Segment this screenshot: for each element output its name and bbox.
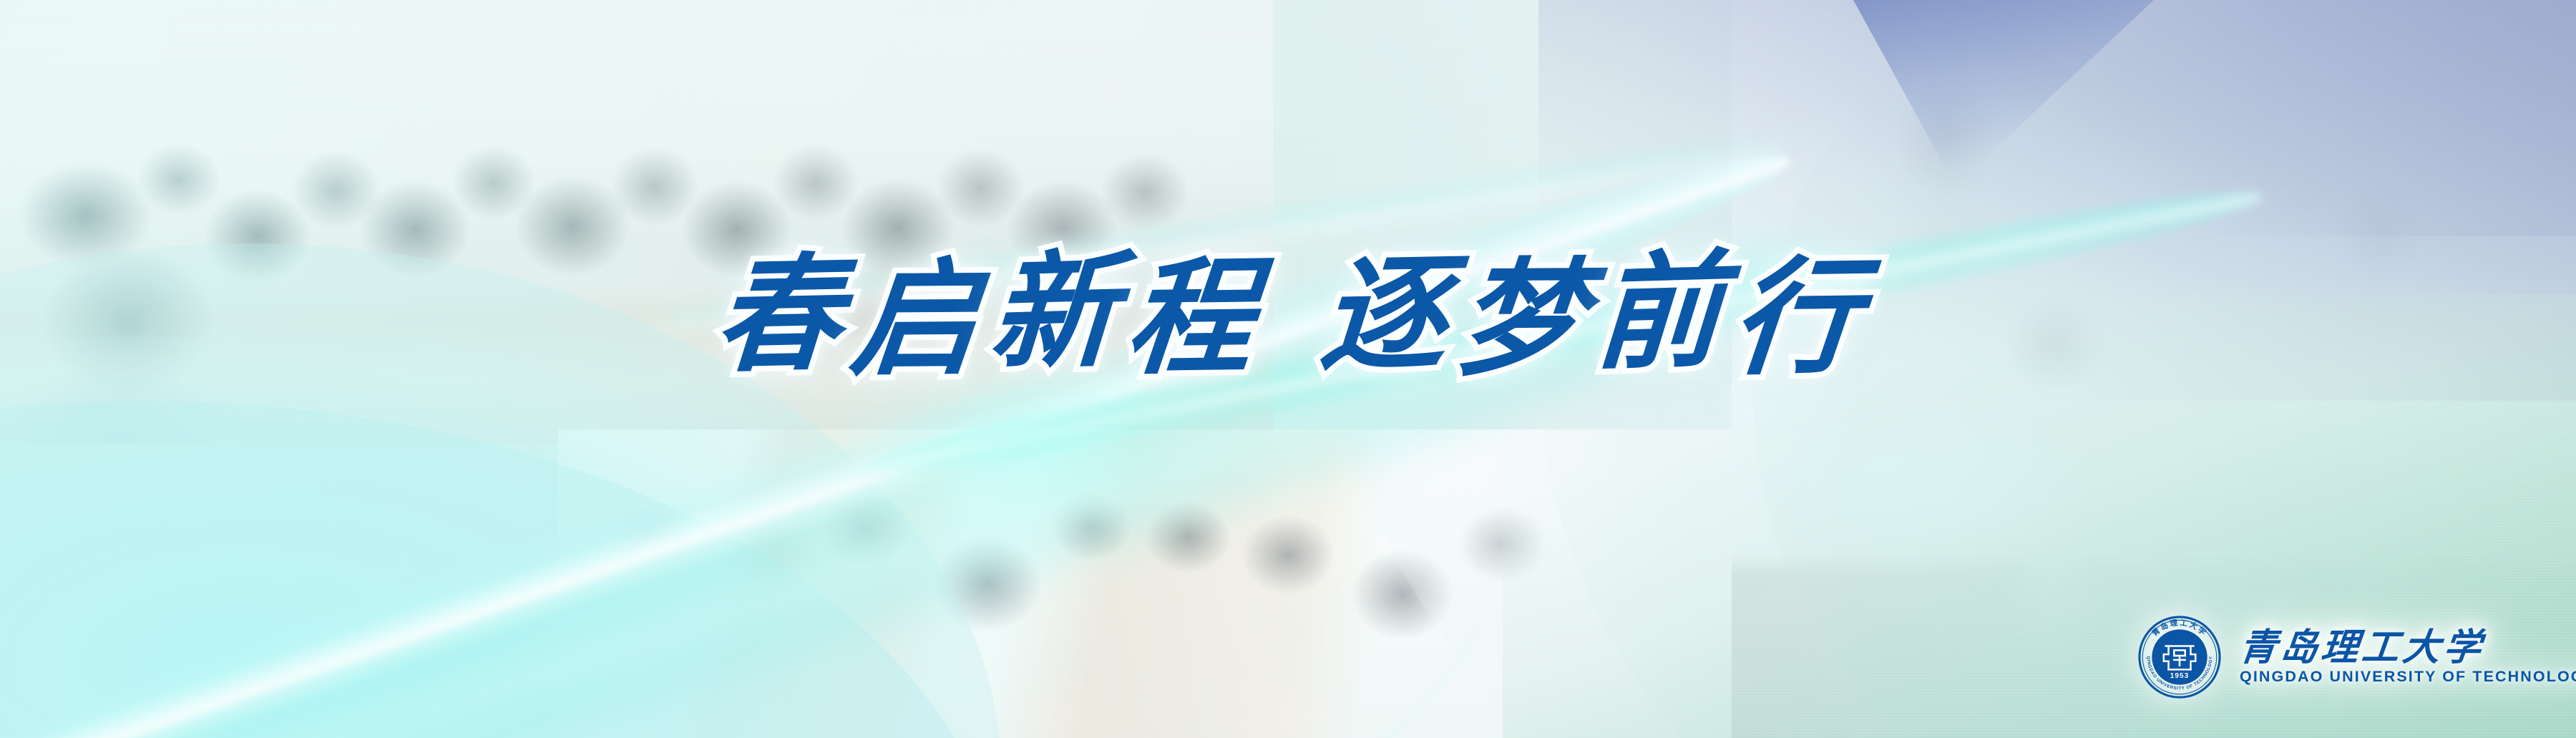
- headline-char-xing: 行: [1727, 254, 1866, 382]
- headline-phrase-one: 春 启 新 程: [716, 252, 1255, 378]
- headline-char-cheng: 程: [1121, 254, 1260, 382]
- university-name-en: QINGDAO UNIVERSITY OF TECHNOLOGY: [2240, 668, 2576, 686]
- banner-headline: 春 启 新 程 逐 梦 前 行: [0, 252, 2576, 378]
- headline-char-qian: 前: [1592, 248, 1727, 377]
- headline-char-zhu: 逐: [1317, 251, 1453, 379]
- headline-char-meng: 梦: [1452, 256, 1591, 382]
- headline-char-chun: 春: [711, 251, 847, 379]
- campus-banner: 春 启 新 程 逐 梦 前 行 青岛理工大学 QINGDAO: [0, 0, 2576, 738]
- university-logo-lockup: 青岛理工大学 QINGDAO UNIVERSITY OF TECHNOLOGY …: [2138, 616, 2576, 699]
- university-seal-icon: 青岛理工大学 QINGDAO UNIVERSITY OF TECHNOLOGY …: [2138, 616, 2221, 699]
- university-name-block: 青岛理工大学 QINGDAO UNIVERSITY OF TECHNOLOGY: [2240, 628, 2576, 686]
- headline-char-qi: 启: [847, 256, 986, 382]
- university-name-cn: 青岛理工大学: [2238, 628, 2576, 666]
- headline-char-xin: 新: [987, 248, 1122, 377]
- headline-phrase-two: 逐 梦 前 行: [1321, 252, 1860, 378]
- cyan-corner-bloom: [0, 337, 887, 738]
- streak-glow-hotspot-right: [1739, 401, 2111, 573]
- seal-year: 1953: [2170, 672, 2189, 680]
